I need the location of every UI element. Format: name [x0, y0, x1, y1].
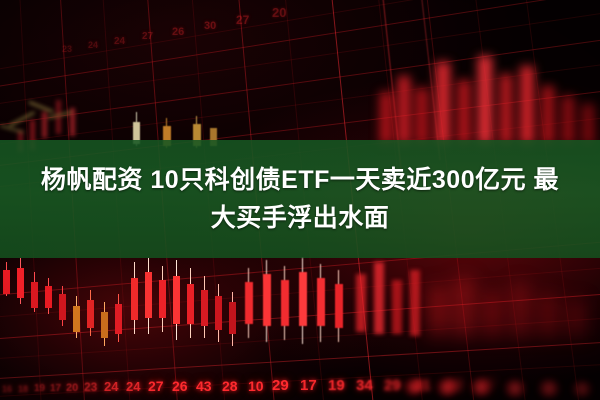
bottom-tick-7: 24 [126, 379, 140, 394]
bottom-tick-19: 32 [446, 377, 463, 394]
bottom-tick-5: 23 [84, 380, 97, 394]
chart-bottom-tick-labels: 16 18 19 17 20 23 24 24 27 26 43 28 10 2… [0, 0, 600, 400]
bottom-tick-18: 31 [414, 377, 431, 394]
bottom-tick-3: 17 [50, 383, 61, 394]
bottom-tick-9: 26 [172, 378, 188, 394]
screenshot-root: 23 24 24 27 26 30 27 20 [0, 0, 600, 400]
bottom-tick-20: 37 [478, 377, 495, 394]
bottom-tick-6: 24 [104, 379, 118, 394]
bottom-tick-16: 34 [356, 377, 373, 394]
bottom-tick-11: 28 [222, 378, 238, 394]
bottom-tick-1: 18 [18, 384, 28, 394]
bottom-tick-14: 17 [300, 377, 317, 394]
bottom-tick-8: 27 [148, 378, 164, 394]
bottom-tick-12: 10 [248, 378, 264, 394]
bottom-tick-17: 29 [384, 377, 401, 394]
bottom-tick-0: 16 [2, 384, 12, 394]
bottom-tick-4: 20 [66, 382, 78, 394]
bottom-tick-15: 19 [328, 377, 345, 394]
bottom-tick-13: 29 [272, 377, 289, 394]
bottom-tick-10: 43 [196, 378, 212, 394]
bottom-tick-2: 19 [34, 383, 45, 394]
